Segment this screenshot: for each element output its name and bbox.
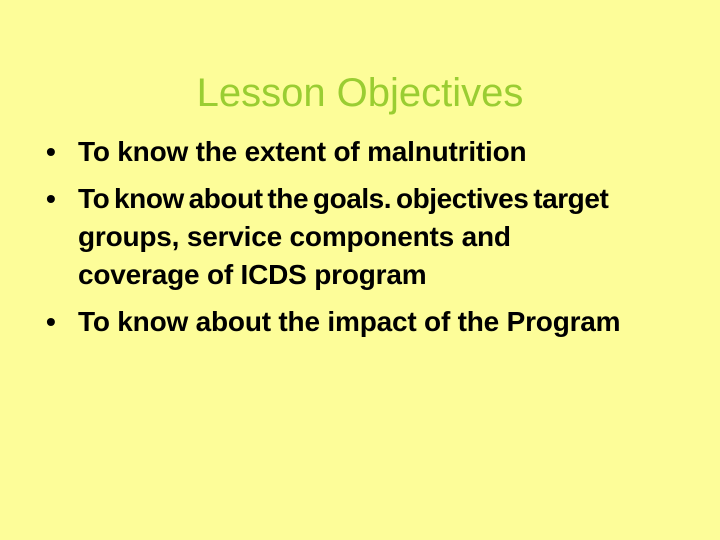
presentation-slide: Lesson Objectives • To know the extent o…: [0, 0, 720, 540]
bullet-text-line: To know the extent of malnutrition: [78, 133, 692, 171]
bullet-dot-icon: •: [46, 133, 64, 171]
bullet-text-line: To know about the impact of the Program: [78, 303, 692, 341]
bullet-text-line: To know about the goals. objectives targ…: [78, 180, 692, 218]
page-title: Lesson Objectives: [0, 69, 720, 117]
bullet-text-line: coverage of ICDS program: [78, 256, 692, 294]
list-item: • To know about the goals. objectives ta…: [42, 180, 692, 294]
list-item: • To know about the impact of the Progra…: [42, 303, 692, 341]
list-item: • To know the extent of malnutrition: [42, 133, 692, 171]
bullet-text-line: groups, service components and: [78, 218, 692, 256]
objectives-bullet-list: • To know the extent of malnutrition • T…: [42, 133, 692, 341]
bullet-dot-icon: •: [46, 303, 64, 341]
bullet-dot-icon: •: [46, 180, 64, 218]
